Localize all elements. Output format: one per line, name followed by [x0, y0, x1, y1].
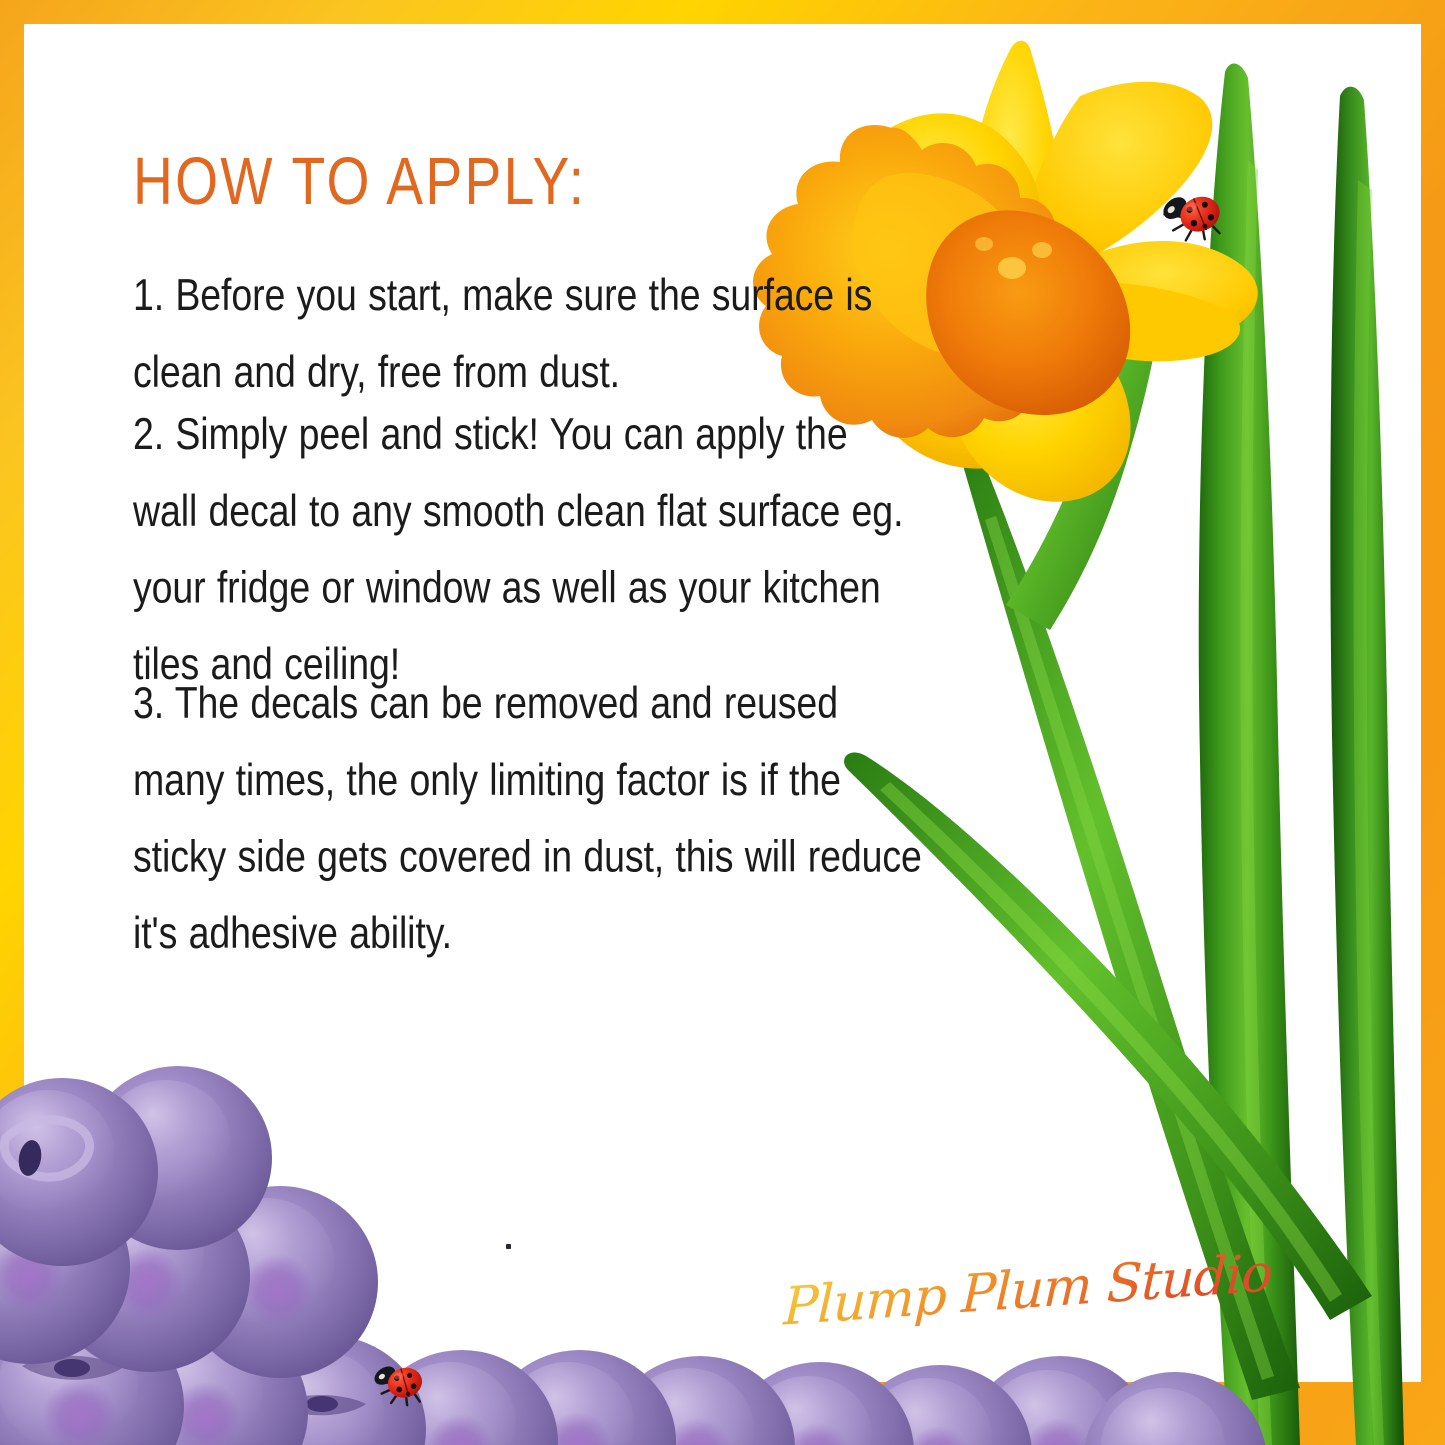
step-item-2: 2. Simply peel and stick! You can apply …	[133, 396, 923, 703]
brand-signature: Plump Plum Studio	[791, 1248, 1191, 1358]
decorative-speck	[506, 1244, 511, 1249]
step-item-1: 1. Before you start, make sure the surfa…	[133, 257, 923, 410]
page-title: HOW TO APPLY:	[133, 146, 586, 218]
product-instruction-card: HOW TO APPLY: 1. Before you start, make …	[0, 0, 1445, 1445]
steps-list: 1. Before you start, make sure the surfa…	[133, 257, 923, 925]
step-item-3: 3. The decals can be removed and reused …	[133, 665, 923, 972]
